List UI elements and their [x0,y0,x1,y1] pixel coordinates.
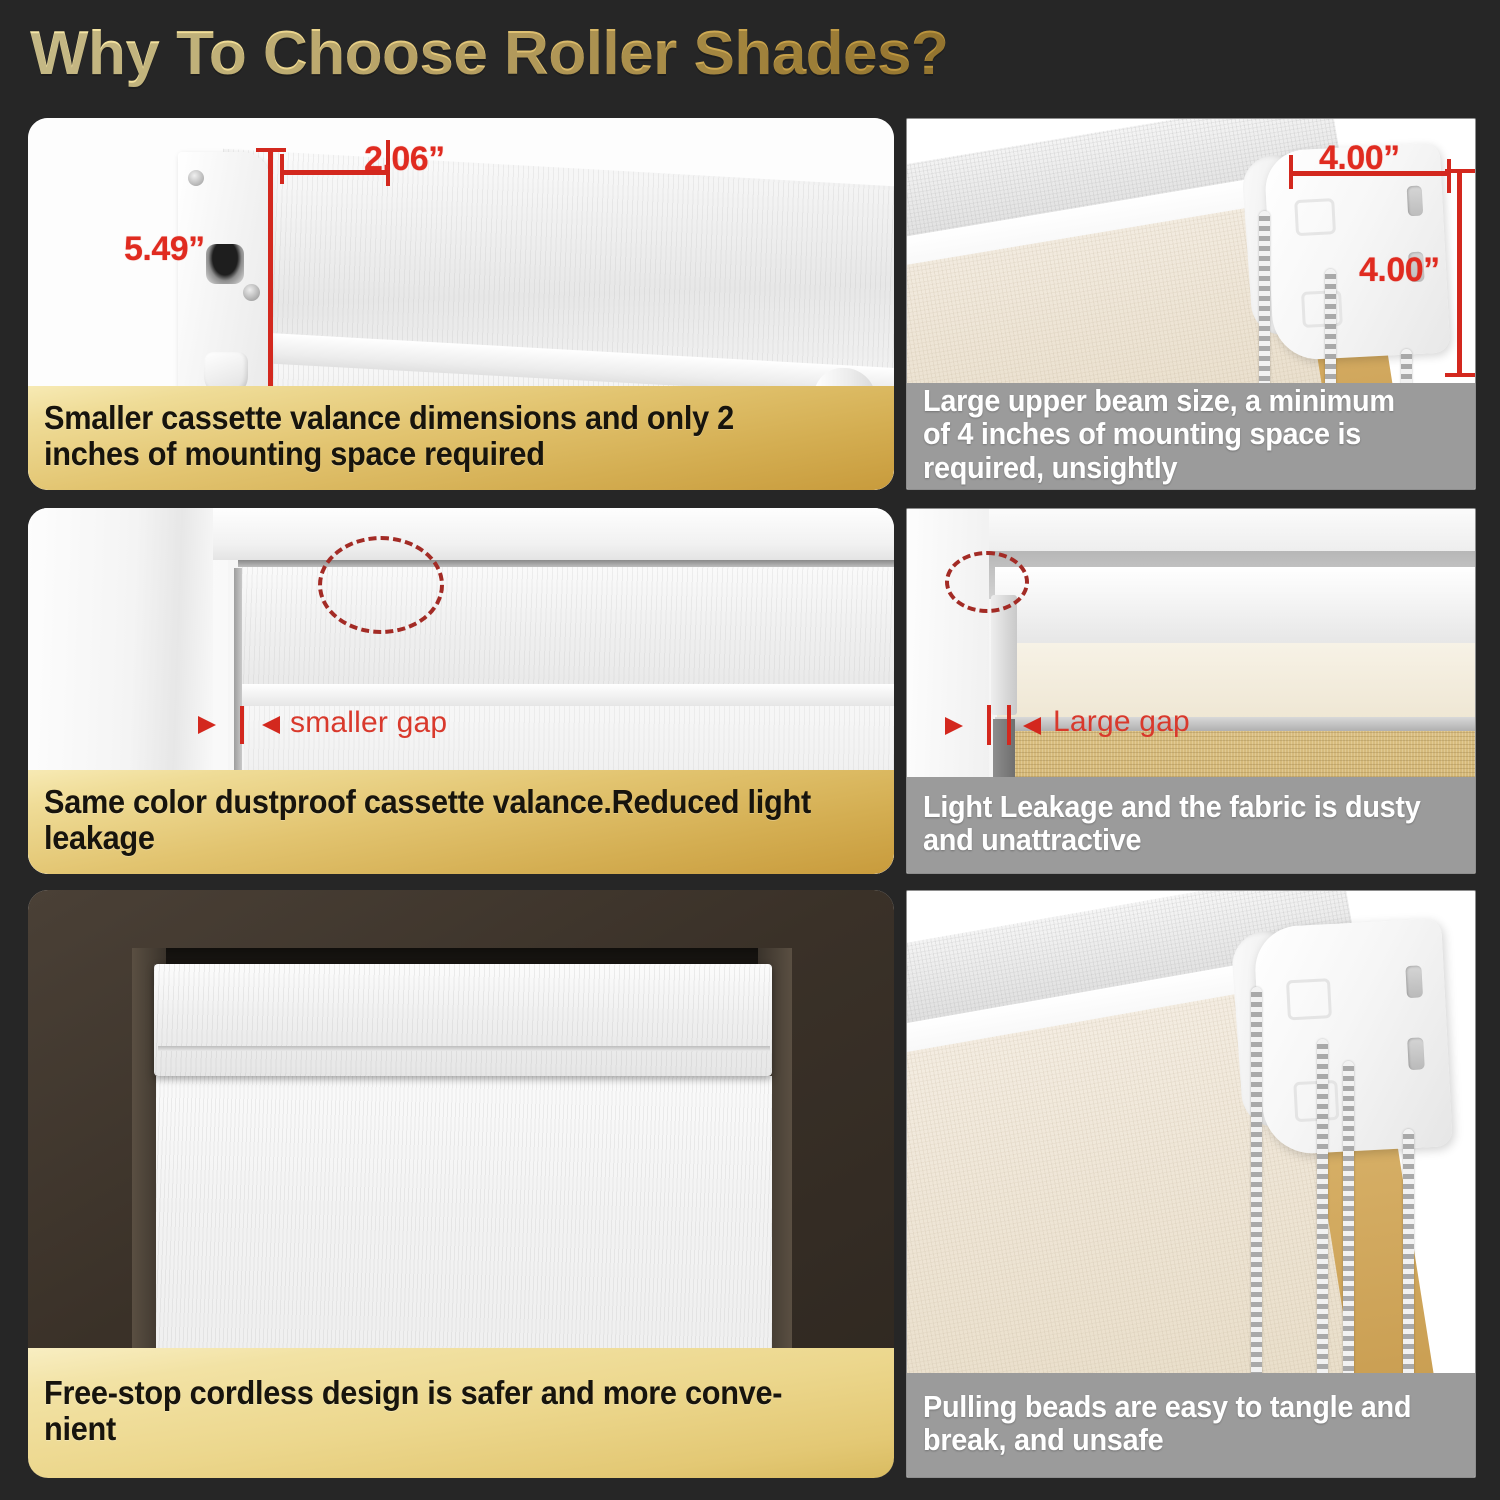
highlight-ellipse [318,536,444,634]
highlight-ellipse [945,551,1029,613]
panel-1-caption-text: Smaller cassette valance dimensions and … [44,400,820,471]
gap-arrow-right [1023,717,1041,735]
panel-dustproof-cassette-small-gap: smaller gap Same color dustproof cassett… [28,508,894,874]
panel-pulling-beads-unsafe: Pulling beads are easy to tangle and bre… [906,890,1476,1478]
bead-chain-1 [1251,987,1262,1417]
width-dimension-label: 2.06” [364,140,445,179]
infographic-page: Why To Choose Roller Shades? 2.06” [0,0,1500,1500]
cassette-valance [154,964,772,1076]
beam-height-label: 4.00” [1359,251,1440,290]
panel-4-caption: Light Leakage and the fabric is dusty an… [907,777,1475,873]
panel-5-caption: Free-stop cordless design is safer and m… [28,1348,894,1478]
panel-6-caption: Pulling beads are easy to tangle and bre… [907,1373,1475,1477]
panel-free-stop-cordless: Free-stop cordless design is safer and m… [28,890,894,1478]
panel-3-caption-text: Same color dustproof cassette valance.Re… [44,784,820,855]
gap-marker-1 [987,705,991,745]
beam-height-tick-top [1445,169,1475,173]
panel-6-caption-text: Pulling beads are easy to tangle and bre… [923,1390,1421,1457]
gap-label: smaller gap [290,706,447,740]
width-tick-left [280,154,284,184]
beam-height-tick-bottom [1445,373,1475,377]
panel-3-caption: Same color dustproof cassette valance.Re… [28,770,894,874]
panel-4-caption-text: Light Leakage and the fabric is dusty an… [923,790,1421,857]
beam-width-tick-right [1447,159,1451,193]
panel-2-caption-text: Large upper beam size, a minimum of 4 in… [923,384,1421,484]
page-title: Why To Choose Roller Shades? [30,18,948,89]
valance-end-cap [178,152,270,420]
gap-marker [240,706,244,744]
panel-2-caption: Large upper beam size, a minimum of 4 in… [907,383,1475,489]
panel-5-caption-text: Free-stop cordless design is safer and m… [44,1375,820,1446]
gap-marker-2 [1007,705,1011,745]
beam-width-tick-left [1289,155,1293,189]
gap-arrow-left [945,717,963,735]
panel-light-leakage-large-gap: Large gap Light Leakage and the fabric i… [906,508,1476,874]
panel-large-upper-beam: 4.00” 4.00” Large upper beam size, a min… [906,118,1476,490]
bead-chain-2 [1317,1039,1328,1417]
beam-width-label: 4.00” [1319,139,1400,178]
gap-arrow-left [198,716,216,734]
panel-cassette-valance-dimensions: 2.06” 5.49” Smaller cassette valance dim… [28,118,894,490]
beam-height-line [1457,171,1462,377]
gap-arrow-right [262,716,280,734]
height-dimension-label: 5.49” [124,230,205,269]
gap-label: Large gap [1053,705,1190,739]
height-tick-top [256,148,286,152]
panel-1-caption: Smaller cassette valance dimensions and … [28,386,894,490]
bead-chain-3 [1343,1061,1354,1417]
